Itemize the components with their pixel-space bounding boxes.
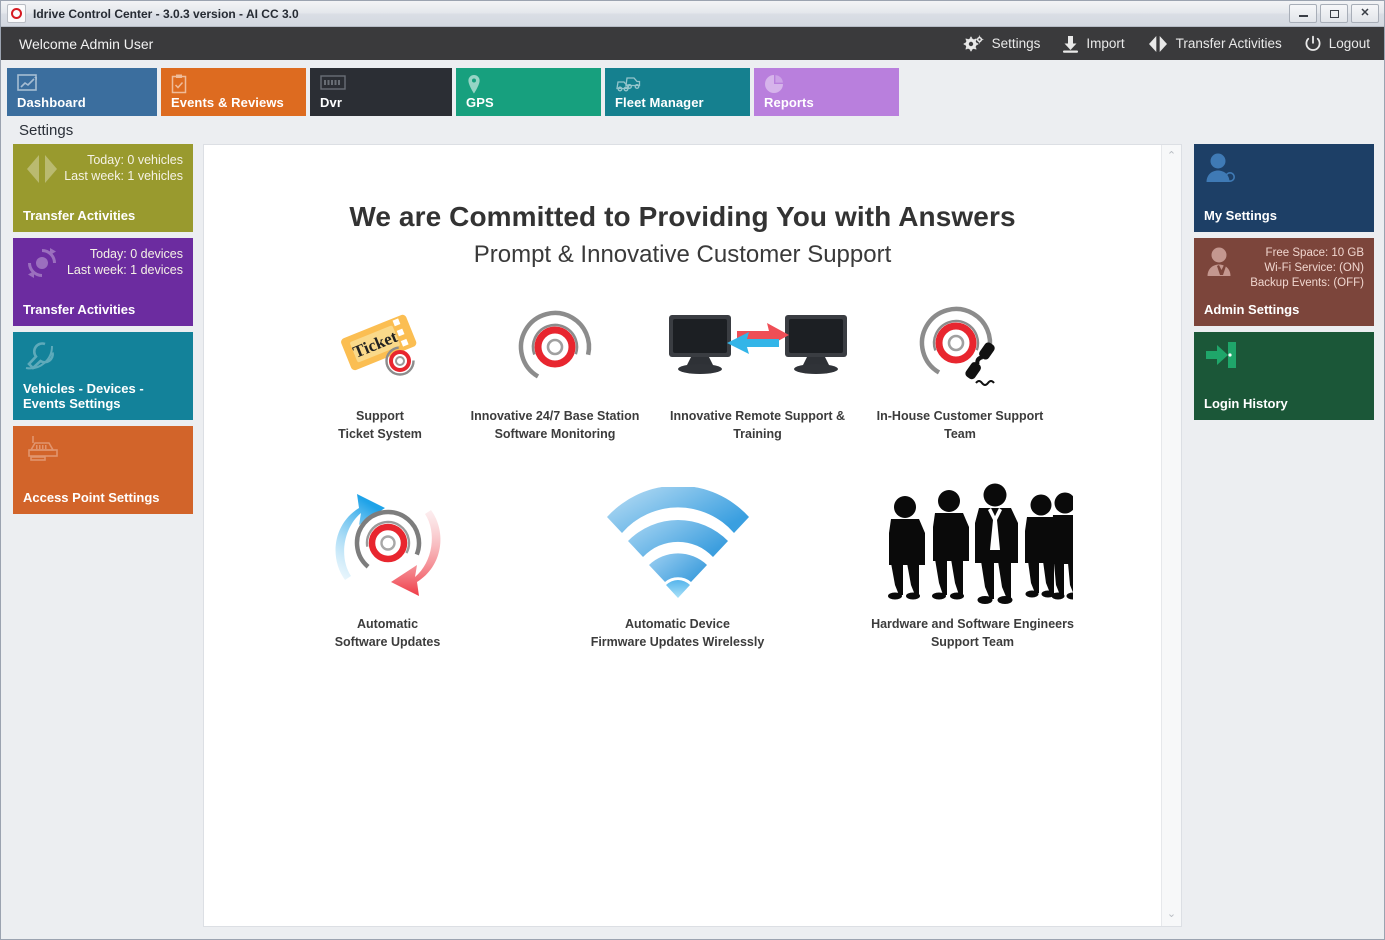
gears-icon	[963, 34, 985, 53]
feature-engineers-support-team: Hardware and Software Engineers Support …	[823, 483, 1123, 651]
tile-vehicles-devices-events-settings[interactable]: Vehicles - Devices - Events Settings	[13, 332, 193, 420]
feature-caption: Innovative 24/7 Base Station Software Mo…	[471, 407, 640, 443]
tile-admin-settings[interactable]: Free Space: 10 GB Wi-Fi Service: (ON) Ba…	[1194, 238, 1374, 326]
tile-stat-line: Free Space: 10 GB	[1250, 246, 1364, 261]
feature-caption: In-House Customer Support Team	[877, 407, 1044, 443]
scroll-up-icon[interactable]: ⌃	[1167, 151, 1176, 162]
tab-label: Events & Reviews	[171, 95, 296, 110]
download-icon	[1062, 35, 1079, 53]
tile-login-history[interactable]: Login History	[1194, 332, 1374, 420]
feature-in-house-support-team: In-House Customer Support Team	[860, 299, 1060, 443]
page-title-row: Settings	[1, 116, 1384, 144]
tab-label: Dashboard	[17, 95, 147, 110]
topnav-settings[interactable]: Settings	[963, 34, 1041, 53]
app-icon	[7, 4, 26, 23]
topnav-logout[interactable]: Logout	[1304, 35, 1370, 53]
tile-label: Admin Settings	[1204, 294, 1364, 317]
feature-support-ticket-system: Ticket Support Ticket System	[305, 299, 455, 443]
top-bar: Welcome Admin User Sett	[1, 27, 1384, 60]
left-tile-column: Today: 0 vehicles Last week: 1 vehicles …	[13, 144, 193, 927]
transfer-arrows-icon	[1147, 35, 1169, 53]
tile-stat-line: Today: 0 devices	[67, 246, 183, 262]
topnav-label: Logout	[1329, 36, 1370, 51]
device-sync-icon	[23, 246, 61, 285]
feature-base-station-monitoring: Innovative 24/7 Base Station Software Mo…	[455, 299, 655, 443]
body: Today: 0 vehicles Last week: 1 vehicles …	[1, 144, 1384, 939]
feature-firmware-updates-wirelessly: Automatic Device Firmware Updates Wirele…	[533, 483, 823, 651]
power-icon	[1304, 35, 1322, 53]
top-nav: Settings Import	[963, 34, 1370, 53]
team-silhouette-icon	[873, 483, 1073, 603]
monitoring-target-icon	[512, 299, 598, 395]
tile-stat-line: Last week: 1 devices	[67, 262, 183, 278]
topnav-label: Settings	[992, 36, 1041, 51]
main-panel: We are Committed to Providing You with A…	[203, 144, 1182, 927]
vertical-scrollbar[interactable]: ⌃ ⌄	[1161, 145, 1181, 926]
scroll-down-icon[interactable]: ⌄	[1167, 909, 1176, 920]
feature-remote-support-training: Innovative Remote Support & Training	[655, 299, 860, 443]
tile-stat-line: Wi-Fi Service: (ON)	[1250, 261, 1364, 276]
chart-line-icon	[17, 74, 147, 94]
support-phone-icon	[912, 299, 1008, 395]
login-arrow-icon	[1204, 340, 1238, 375]
tab-dvr[interactable]: Dvr	[310, 68, 452, 116]
tile-stat-line: Last week: 1 vehicles	[64, 168, 183, 184]
tile-label: Transfer Activities	[23, 294, 183, 317]
tile-label: Login History	[1204, 388, 1364, 411]
tile-label: Access Point Settings	[23, 482, 183, 505]
feature-row-2: Automatic Software Updates	[204, 483, 1161, 651]
wrench-icon	[23, 340, 59, 377]
main-subheading: Prompt & Innovative Customer Support	[204, 241, 1161, 269]
tab-label: Dvr	[320, 95, 442, 110]
tile-label: Vehicles - Devices - Events Settings	[23, 373, 183, 411]
tab-gps[interactable]: GPS	[456, 68, 601, 116]
close-button[interactable]: ✕	[1351, 4, 1379, 23]
tab-label: GPS	[466, 95, 591, 110]
admin-user-icon	[1204, 246, 1238, 283]
application-window: Idrive Control Center - 3.0.3 version - …	[0, 0, 1385, 940]
main-content: We are Committed to Providing You with A…	[204, 145, 1161, 926]
feature-row-1: Ticket Support Ticket System	[204, 299, 1161, 443]
tile-stats: Free Space: 10 GB Wi-Fi Service: (ON) Ba…	[1250, 246, 1364, 291]
tile-transfer-activities-vehicles[interactable]: Today: 0 vehicles Last week: 1 vehicles …	[13, 144, 193, 232]
module-tabs: Dashboard Events & Reviews Dvr GPS Fleet	[1, 60, 1384, 116]
clipboard-check-icon	[171, 74, 296, 94]
tile-transfer-activities-devices[interactable]: Today: 0 devices Last week: 1 devices Tr…	[13, 238, 193, 326]
wifi-icon	[603, 483, 753, 603]
topnav-label: Import	[1086, 36, 1124, 51]
tile-label: My Settings	[1204, 200, 1364, 223]
window-controls: ✕	[1289, 4, 1382, 23]
window-title: Idrive Control Center - 3.0.3 version - …	[33, 7, 299, 21]
topnav-import[interactable]: Import	[1062, 35, 1124, 53]
vehicles-icon	[615, 74, 740, 94]
tile-stats: Today: 0 devices Last week: 1 devices	[67, 246, 183, 278]
right-tile-column: My Settings Free Space: 10 GB Wi-Fi Serv…	[1194, 144, 1374, 927]
feature-caption: Support Ticket System	[338, 407, 422, 443]
support-ticket-icon: Ticket	[330, 299, 430, 395]
tab-label: Fleet Manager	[615, 95, 740, 110]
feature-automatic-software-updates: Automatic Software Updates	[243, 483, 533, 651]
pie-chart-icon	[764, 74, 889, 94]
close-icon: ✕	[1360, 8, 1369, 19]
maximize-button[interactable]	[1320, 4, 1348, 23]
remote-monitors-icon	[663, 299, 853, 395]
feature-caption: Innovative Remote Support & Training	[670, 407, 845, 443]
transfer-arrows-icon	[23, 152, 61, 191]
tile-label: Transfer Activities	[23, 200, 183, 223]
tab-dashboard[interactable]: Dashboard	[7, 68, 157, 116]
tab-label: Reports	[764, 95, 889, 110]
tab-fleet-manager[interactable]: Fleet Manager	[605, 68, 750, 116]
tile-my-settings[interactable]: My Settings	[1194, 144, 1374, 232]
dvr-icon	[320, 74, 442, 94]
page-title: Settings	[19, 122, 73, 139]
feature-caption: Hardware and Software Engineers Support …	[871, 615, 1074, 651]
title-bar: Idrive Control Center - 3.0.3 version - …	[1, 1, 1384, 27]
feature-caption: Automatic Device Firmware Updates Wirele…	[591, 615, 765, 651]
tile-stats: Today: 0 vehicles Last week: 1 vehicles	[64, 152, 183, 184]
topnav-label: Transfer Activities	[1176, 36, 1282, 51]
tab-reports[interactable]: Reports	[754, 68, 899, 116]
tile-stat-line: Backup Events: (OFF)	[1250, 276, 1364, 291]
minimize-button[interactable]	[1289, 4, 1317, 23]
main-heading: We are Committed to Providing You with A…	[204, 201, 1161, 233]
welcome-label: Welcome Admin User	[19, 36, 153, 52]
map-pin-icon	[466, 74, 591, 94]
auto-update-icon	[325, 483, 451, 603]
user-settings-icon	[1204, 152, 1238, 189]
tile-access-point-settings[interactable]: Access Point Settings	[13, 426, 193, 514]
router-icon	[23, 434, 63, 469]
tile-stat-line: Today: 0 vehicles	[64, 152, 183, 168]
tab-events-reviews[interactable]: Events & Reviews	[161, 68, 306, 116]
topnav-transfer-activities[interactable]: Transfer Activities	[1147, 35, 1282, 53]
feature-caption: Automatic Software Updates	[335, 615, 441, 651]
